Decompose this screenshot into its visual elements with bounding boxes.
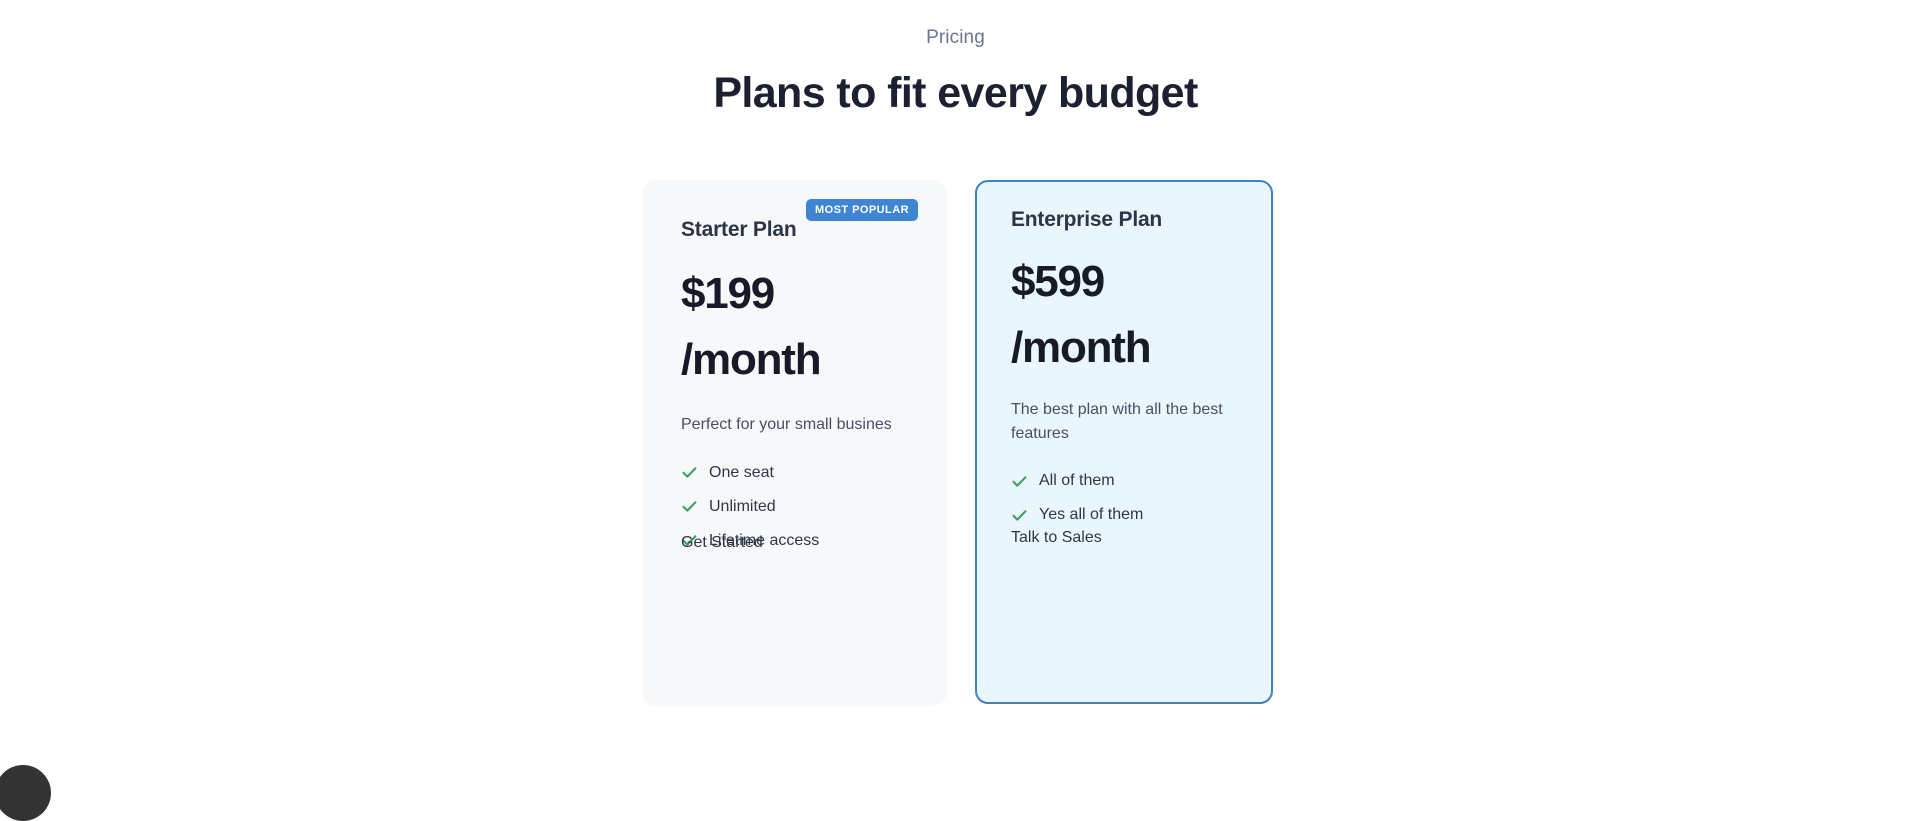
page-header: Pricing Plans to fit every budget bbox=[0, 0, 1911, 118]
feature-label: All of them bbox=[1039, 472, 1115, 490]
feature-list: All of them Yes all of them bbox=[1011, 445, 1237, 540]
talk-to-sales-button[interactable]: Talk to Sales bbox=[1011, 529, 1102, 547]
plan-name: Enterprise Plan bbox=[1011, 208, 1237, 232]
check-icon bbox=[681, 498, 698, 515]
plan-price-amount: $599 bbox=[1011, 232, 1237, 304]
feature-label: Unlimited bbox=[709, 498, 776, 516]
list-item: All of them bbox=[1011, 472, 1237, 506]
most-popular-badge: MOST POPULAR bbox=[806, 199, 918, 221]
list-item: Unlimited bbox=[681, 498, 908, 532]
feature-label: One seat bbox=[709, 464, 774, 482]
page-title: Plans to fit every budget bbox=[0, 49, 1911, 118]
card-content: Enterprise Plan $599 /month The best pla… bbox=[977, 182, 1271, 702]
plan-price-period: /month bbox=[681, 316, 908, 382]
pricing-card-enterprise[interactable]: Enterprise Plan $599 /month The best pla… bbox=[975, 180, 1273, 704]
plan-price-amount: $199 bbox=[681, 242, 908, 316]
pricing-card-starter[interactable]: MOST POPULAR Starter Plan $199 /month Pe… bbox=[643, 180, 946, 704]
page-eyebrow: Pricing bbox=[0, 0, 1911, 49]
list-item: One seat bbox=[681, 464, 908, 498]
plan-name: Starter Plan bbox=[681, 218, 908, 242]
plan-description: Perfect for your small busines bbox=[681, 382, 908, 437]
card-content: MOST POPULAR Starter Plan $199 /month Pe… bbox=[643, 180, 946, 704]
plan-price-period: /month bbox=[1011, 304, 1237, 370]
check-icon bbox=[1011, 473, 1028, 490]
feature-label: Yes all of them bbox=[1039, 506, 1143, 524]
get-started-button[interactable]: Get Started bbox=[681, 534, 763, 552]
plan-description: The best plan with all the best features bbox=[1011, 370, 1237, 445]
check-icon bbox=[681, 464, 698, 481]
chat-bubble-icon[interactable] bbox=[0, 765, 51, 821]
check-icon bbox=[1011, 507, 1028, 524]
